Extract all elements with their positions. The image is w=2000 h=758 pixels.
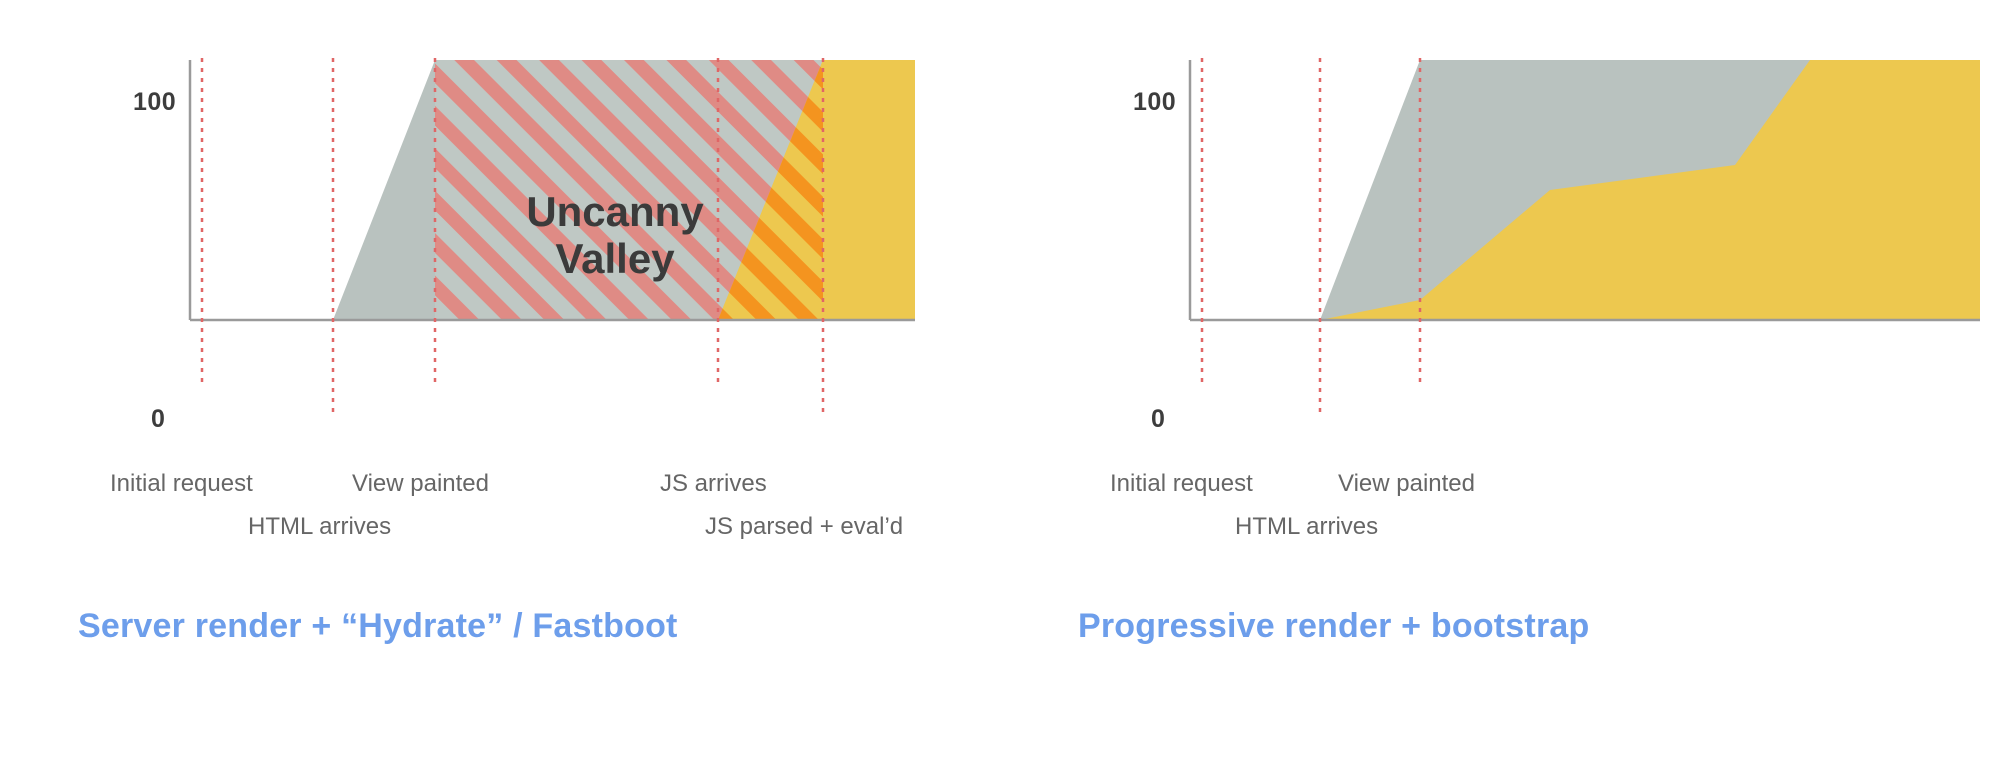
y-axis-min-label: 0 xyxy=(151,405,165,434)
uncanny-valley-annotation: Uncanny Valley xyxy=(500,188,730,282)
marker-label-view-painted: View painted xyxy=(352,470,489,498)
marker-label-js-parsed: JS parsed + eval’d xyxy=(705,513,903,541)
marker-label-initial-request: Initial request xyxy=(1110,470,1253,498)
marker-label-html-arrives: HTML arrives xyxy=(1235,513,1378,541)
chart-panel-progressive-render: 100 0 Initial request HTML arrives View … xyxy=(1000,0,2000,758)
y-axis-max-label: 100 xyxy=(1133,88,1176,117)
y-axis-min-label: 0 xyxy=(1151,405,1165,434)
panel-caption-server-render: Server render + “Hydrate” / Fastboot xyxy=(78,607,678,646)
marker-label-view-painted: View painted xyxy=(1338,470,1475,498)
marker-label-initial-request: Initial request xyxy=(110,470,253,498)
chart-panel-server-render: 100 0 Uncanny Valley Initial request HTM… xyxy=(0,0,1000,758)
slide-root: 100 0 Uncanny Valley Initial request HTM… xyxy=(0,0,2000,758)
marker-label-html-arrives: HTML arrives xyxy=(248,513,391,541)
panel-caption-progressive-render: Progressive render + bootstrap xyxy=(1078,607,1589,646)
y-axis-max-label: 100 xyxy=(133,88,176,117)
marker-label-js-arrives: JS arrives xyxy=(660,470,767,498)
